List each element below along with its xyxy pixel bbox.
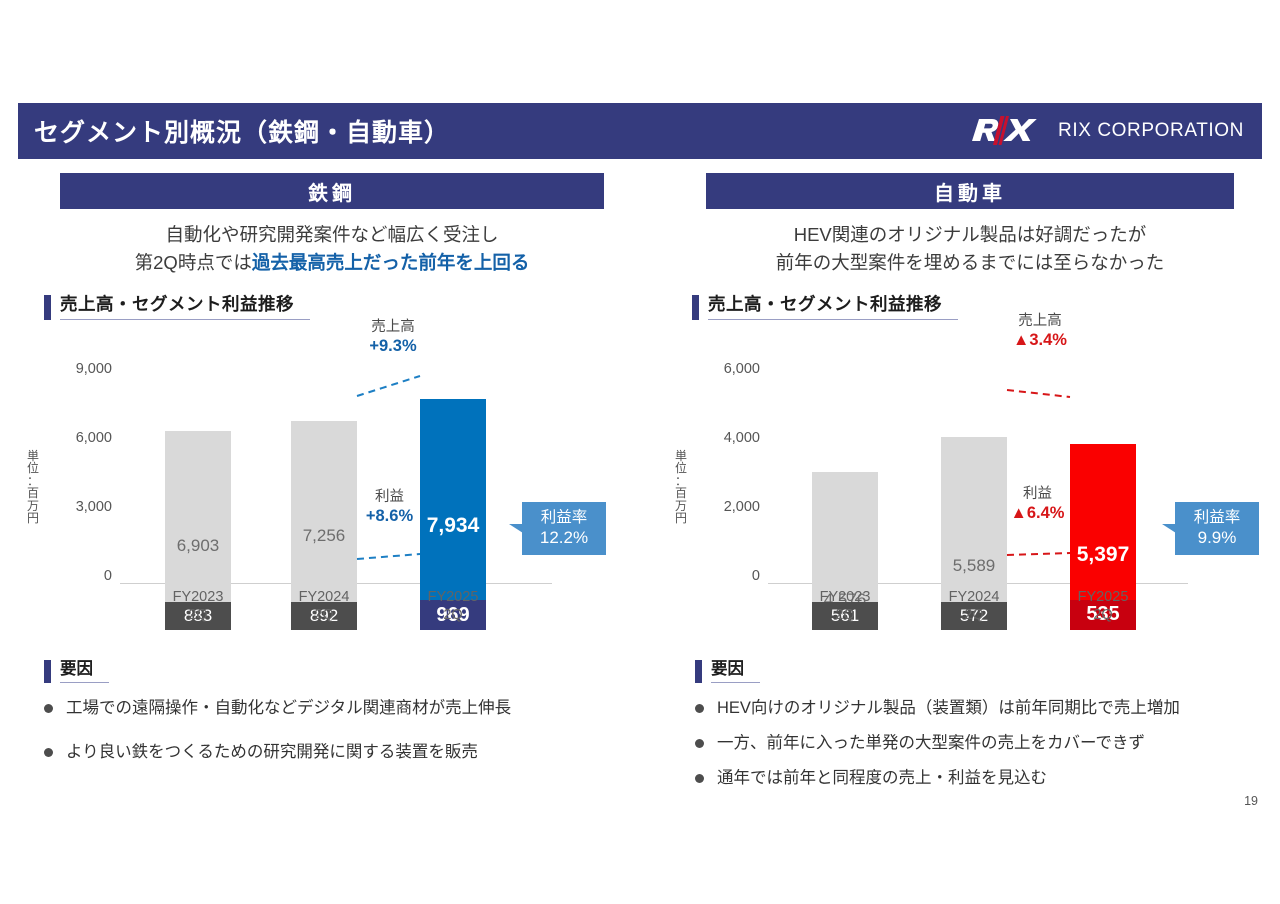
chart-automotive: 単 位 ： 百 万 円 6,000 4,000 2,000 0 4,576 56…	[670, 330, 1270, 630]
bar-revenue-fy2023: 6,903	[165, 431, 231, 610]
x-label-line2: 2Q	[1053, 606, 1153, 624]
chart-section-title: 売上高・セグメント利益推移	[60, 295, 310, 319]
factors-header: 要因	[695, 660, 1275, 683]
bar-revenue-label-fy2024: 5,589	[941, 556, 1007, 576]
bar-revenue-label-fy2025: 5,397	[1070, 543, 1136, 567]
factors-steel: 要因 工場での遠隔操作・自動化などデジタル関連商材が売上伸長 より良い鉄をつくる…	[44, 660, 654, 785]
unit-char: 百	[26, 487, 40, 500]
profit-margin-callout-automotive: 利益率 9.9%	[1175, 502, 1259, 556]
profit-delta-caption: 利益	[342, 488, 437, 507]
y-tick-3000: 3,000	[48, 499, 112, 515]
segment-lead-automotive: HEV関連のオリジナル製品は好調だったが 前年の大型案件を埋めるまでには至らなか…	[670, 221, 1270, 277]
bullet-dot-icon	[44, 704, 53, 713]
profit-delta-caption: 利益	[990, 485, 1085, 504]
callout-value: 9.9%	[1185, 527, 1249, 548]
x-label-line2: 2Q	[148, 606, 248, 624]
lead-line-2: 第2Q時点では過去最高売上だった前年を上回る	[22, 249, 642, 277]
list-item: 工場での遠隔操作・自動化などデジタル関連商材が売上伸長	[44, 697, 654, 721]
x-label-fy2023: FY2023 2Q	[795, 588, 895, 624]
bar-revenue-label-fy2023: 6,903	[165, 536, 231, 556]
factors-title: 要因	[711, 660, 760, 683]
factors-automotive: 要因 HEV向けのオリジナル製品（装置類）は前年同期比で売上増加 一方、前年に入…	[695, 660, 1275, 802]
lead-line-2: 前年の大型案件を埋めるまでには至らなかった	[670, 249, 1270, 277]
x-label-fy2025: FY2025 2Q	[403, 588, 503, 624]
profit-delta-value: ▲6.4%	[990, 503, 1085, 524]
rix-logo-icon	[970, 114, 1048, 148]
factor-text: 工場での遠隔操作・自動化などデジタル関連商材が売上伸長	[66, 697, 511, 721]
bullet-dot-icon	[695, 774, 704, 783]
revenue-delta-automotive: 売上高 ▲3.4%	[985, 312, 1095, 352]
factor-text: HEV向けのオリジナル製品（装置類）は前年同期比で売上増加	[717, 697, 1180, 721]
bar-revenue-label-fy2024: 7,256	[291, 526, 357, 546]
unit-char: 位	[26, 462, 40, 475]
y-tick-4000: 4,000	[696, 430, 760, 446]
section-accent-bar	[44, 295, 51, 320]
section-accent-bar	[44, 660, 51, 683]
y-tick-2000: 2,000	[696, 499, 760, 515]
profit-delta-automotive: 利益 ▲6.4%	[990, 485, 1085, 525]
x-label-fy2024: FY2024 2Q	[274, 588, 374, 624]
factor-text: より良い鉄をつくるための研究開発に関する装置を販売	[66, 741, 478, 765]
unit-char: 百	[674, 487, 688, 500]
x-label-line2: 2Q	[274, 606, 374, 624]
factors-list: HEV向けのオリジナル製品（装置類）は前年同期比で売上増加 一方、前年に入った単…	[695, 697, 1275, 791]
panel-steel: 鉄鋼 自動化や研究開発案件など幅広く受注し 第2Q時点では過去最高売上だった前年…	[22, 173, 642, 630]
x-label-line2: 2Q	[403, 606, 503, 624]
page-title: セグメント別概況（鉄鋼・自動車）	[18, 113, 450, 149]
segment-lead-steel: 自動化や研究開発案件など幅広く受注し 第2Q時点では過去最高売上だった前年を上回…	[22, 221, 642, 277]
section-accent-bar	[692, 295, 699, 320]
profit-delta-value: +8.6%	[342, 506, 437, 527]
lead-line-2-plain: 第2Q時点では	[135, 252, 252, 273]
chart-section-header-automotive: 売上高・セグメント利益推移	[670, 295, 1270, 320]
x-label-line1: FY2024	[274, 588, 374, 606]
unit-char: 円	[674, 512, 688, 525]
revenue-delta-caption: 売上高	[985, 312, 1095, 331]
slide: セグメント別概況（鉄鋼・自動車） RIX CORPORATION 鉄鋼 自動化や…	[0, 0, 1280, 904]
x-label-line1: FY2025	[403, 588, 503, 606]
bullet-dot-icon	[695, 739, 704, 748]
x-label-line1: FY2025	[1053, 588, 1153, 606]
revenue-delta-caption: 売上高	[338, 318, 448, 337]
segment-banner-automotive: 自動車	[706, 173, 1234, 209]
x-label-line1: FY2024	[924, 588, 1024, 606]
page-number: 19	[1244, 794, 1258, 808]
segment-banner-steel: 鉄鋼	[60, 173, 604, 209]
list-item: 一方、前年に入った単発の大型案件の売上をカバーできず	[695, 732, 1275, 756]
revenue-delta-steel: 売上高 +9.3%	[338, 318, 448, 358]
unit-char: 円	[26, 512, 40, 525]
unit-char: 位	[674, 462, 688, 475]
bar-revenue-fy2023: 4,576	[812, 472, 878, 602]
factors-title: 要因	[60, 660, 109, 683]
revenue-delta-value: ▲3.4%	[985, 330, 1095, 351]
x-label-line1: FY2023	[795, 588, 895, 606]
factors-list: 工場での遠隔操作・自動化などデジタル関連商材が売上伸長 より良い鉄をつくるための…	[44, 697, 654, 765]
callout-value: 12.2%	[532, 527, 596, 548]
list-item: 通年では前年と同程度の売上・利益を見込む	[695, 767, 1275, 791]
callout-caption: 利益率	[532, 508, 596, 527]
x-label-fy2023: FY2023 2Q	[148, 588, 248, 624]
x-label-line2: 2Q	[924, 606, 1024, 624]
list-item: HEV向けのオリジナル製品（装置類）は前年同期比で売上増加	[695, 697, 1275, 721]
x-label-line1: FY2023	[148, 588, 248, 606]
y-tick-6000: 6,000	[696, 361, 760, 377]
factor-text: 一方、前年に入った単発の大型案件の売上をカバーできず	[717, 732, 1145, 756]
lead-line-2-highlight: 過去最高売上だった前年を上回る	[252, 252, 530, 273]
list-item: より良い鉄をつくるための研究開発に関する装置を販売	[44, 741, 654, 765]
lead-line-1: 自動化や研究開発案件など幅広く受注し	[22, 221, 642, 249]
logo-wordmark: RIX CORPORATION	[1058, 120, 1244, 142]
chart-section-title: 売上高・セグメント利益推移	[708, 295, 958, 319]
x-label-fy2025: FY2025 2Q	[1053, 588, 1153, 624]
y-tick-0: 0	[48, 568, 112, 584]
y-tick-0: 0	[696, 568, 760, 584]
factor-text: 通年では前年と同程度の売上・利益を見込む	[717, 767, 1047, 791]
x-label-fy2024: FY2024 2Q	[924, 588, 1024, 624]
lead-line-1: HEV関連のオリジナル製品は好調だったが	[670, 221, 1270, 249]
y-axis-unit-label: 単 位 ： 百 万 円	[26, 450, 40, 526]
x-label-line2: 2Q	[795, 606, 895, 624]
bullet-dot-icon	[695, 704, 704, 713]
profit-delta-steel: 利益 +8.6%	[342, 488, 437, 528]
section-accent-bar	[695, 660, 702, 683]
factors-header: 要因	[44, 660, 654, 683]
chart-section-header-steel: 売上高・セグメント利益推移	[22, 295, 642, 320]
panel-automotive: 自動車 HEV関連のオリジナル製品は好調だったが 前年の大型案件を埋めるまでには…	[670, 173, 1270, 630]
y-axis-unit-label: 単 位 ： 百 万 円	[674, 450, 688, 526]
chart-steel: 単 位 ： 百 万 円 9,000 6,000 3,000 0 6,903 88…	[22, 330, 642, 630]
y-tick-9000: 9,000	[48, 361, 112, 377]
profit-margin-callout-steel: 利益率 12.2%	[522, 502, 606, 556]
y-tick-6000: 6,000	[48, 430, 112, 446]
revenue-delta-value: +9.3%	[338, 336, 448, 357]
brand-logo: RIX CORPORATION	[970, 114, 1262, 148]
bullet-dot-icon	[44, 748, 53, 757]
slide-header: セグメント別概況（鉄鋼・自動車） RIX CORPORATION	[18, 103, 1262, 159]
callout-caption: 利益率	[1185, 508, 1249, 527]
